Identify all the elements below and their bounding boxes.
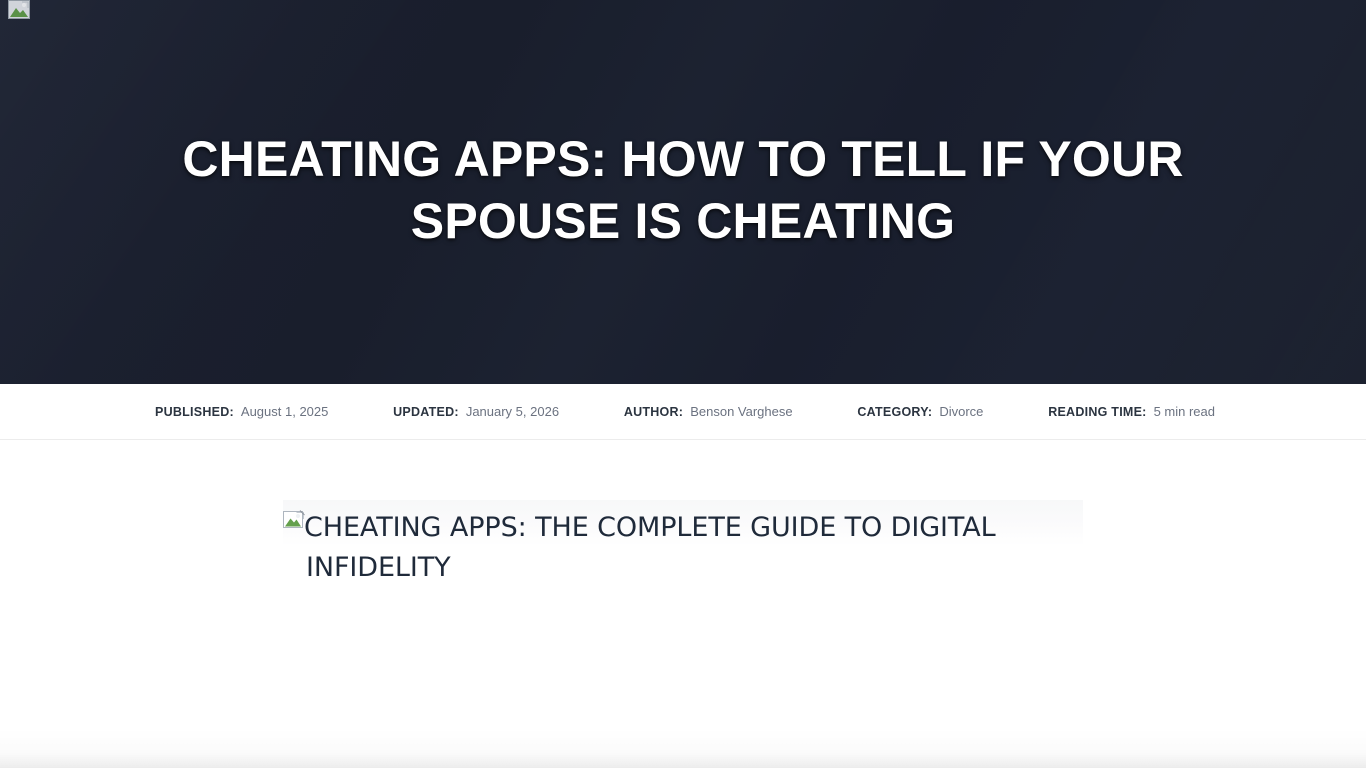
meta-label-reading-time: Reading Time: xyxy=(1048,405,1146,419)
article-meta-bar: Published: August 1, 2025 Updated: Janua… xyxy=(0,384,1366,440)
page-title: Cheating Apps: How to Tell if Your Spous… xyxy=(128,128,1238,252)
article-content: Cheating Apps: The Complete Guide to Dig… xyxy=(0,440,1366,768)
meta-label-category: Category: xyxy=(857,405,932,419)
meta-item-category: Category: Divorce xyxy=(857,404,983,419)
meta-value-category: Divorce xyxy=(939,404,983,419)
meta-label-published: Published: xyxy=(155,405,234,419)
meta-item-published: Published: August 1, 2025 xyxy=(155,404,328,419)
broken-image-placeholder: Cheating Apps: The Complete Guide to Dig… xyxy=(283,508,1083,587)
article-card: Cheating Apps: The Complete Guide to Dig… xyxy=(283,500,1083,750)
broken-image-icon xyxy=(8,0,30,19)
meta-value-author: Benson Varghese xyxy=(690,404,792,419)
meta-label-author: Author: xyxy=(624,405,683,419)
hero-banner: Cheating Apps: How to Tell if Your Spous… xyxy=(0,0,1366,384)
meta-item-reading-time: Reading Time: 5 min read xyxy=(1048,404,1215,419)
article-meta-list: Published: August 1, 2025 Updated: Janua… xyxy=(143,404,1223,419)
meta-item-author: Author: Benson Varghese xyxy=(624,404,793,419)
meta-value-updated: January 5, 2026 xyxy=(466,404,559,419)
broken-image-icon xyxy=(283,510,305,530)
meta-value-published: August 1, 2025 xyxy=(241,404,328,419)
featured-image-alt-text: Cheating Apps: The Complete Guide to Dig… xyxy=(306,508,1066,587)
meta-label-updated: Updated: xyxy=(393,405,459,419)
featured-image-container: Cheating Apps: The Complete Guide to Dig… xyxy=(283,500,1083,587)
meta-item-updated: Updated: January 5, 2026 xyxy=(393,404,559,419)
meta-value-reading-time: 5 min read xyxy=(1154,404,1215,419)
